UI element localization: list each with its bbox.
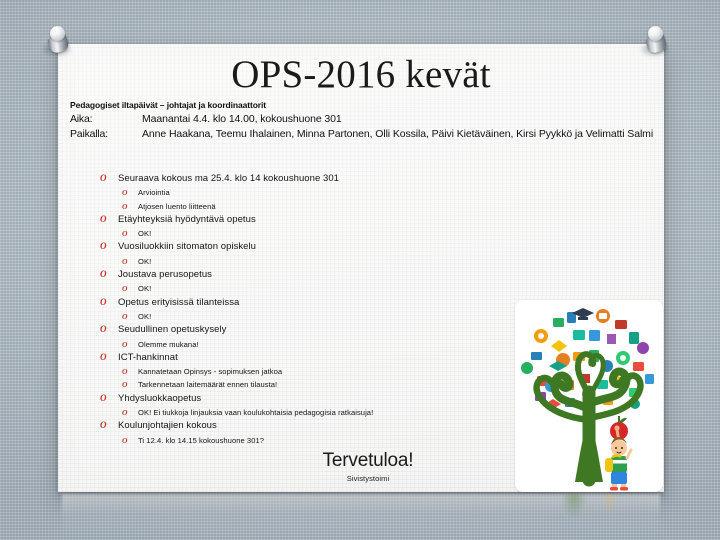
bullet-marker-icon: O (122, 257, 138, 266)
pushpin-head (50, 26, 65, 41)
bullet-marker-icon: O (100, 269, 118, 279)
bullet-marker-icon: O (100, 324, 118, 334)
agenda-item-label: Etäyhteyksiä hyödyntävä opetus (118, 213, 520, 227)
agenda-item-level-1: OOpetus erityisissä tilanteissa (100, 296, 520, 310)
paper-reflection (62, 494, 660, 540)
agenda-item-level-2: OOK! (100, 282, 520, 295)
bullet-marker-icon: O (122, 202, 138, 211)
agenda-list: OSeuraava kokous ma 25.4. klo 14 kokoush… (100, 172, 520, 447)
agenda-item-label: OK! (138, 282, 520, 295)
agenda-item-label: Seuraava kokous ma 25.4. klo 14 kokoushu… (118, 172, 520, 186)
agenda-item-label: Joustava perusopetus (118, 268, 520, 282)
pushpin-icon (42, 24, 76, 58)
attendees-value: Anne Haakana, Teemu Ihalainen, Minna Par… (142, 127, 656, 141)
bullet-marker-icon: O (122, 312, 138, 321)
bullet-marker-icon: O (100, 173, 118, 183)
bullet-marker-icon: O (100, 241, 118, 251)
agenda-item-label: Ti 12.4. klo 14.15 kokoushuone 301? (138, 434, 520, 447)
agenda-item-level-1: OSeudullinen opetuskysely (100, 323, 520, 337)
agenda-item-label: Seudullinen opetuskysely (118, 323, 520, 337)
meeting-detail-row: Aika: Maanantai 4.4. klo 14.00, kokoushu… (70, 112, 656, 126)
agenda-item-level-2: OTarkennetaan laitemäärät ennen tilausta… (100, 378, 520, 391)
agenda-item-level-2: OAtjosen luento liitteenä (100, 200, 520, 213)
agenda-item-label: OK! (138, 227, 520, 240)
meeting-detail-row: Paikalla: Anne Haakana, Teemu Ihalainen,… (70, 127, 656, 141)
attendees-label: Paikalla: (70, 127, 142, 141)
agenda-item-label: Vuosiluokkiin sitomaton opiskelu (118, 240, 520, 254)
agenda-item-level-2: OArviointia (100, 186, 520, 199)
agenda-item-level-2: OKannatetaan Opinsys - sopimuksen jatkoa (100, 365, 520, 378)
agenda-item-label: Opetus erityisissä tilanteissa (118, 296, 520, 310)
agenda-item-level-2: OOK! (100, 310, 520, 323)
agenda-item-label: Olemme mukana! (138, 338, 520, 351)
agenda-item-label: Koulunjohtajien kokous (118, 419, 520, 433)
agenda-item-level-2: OOK! (100, 227, 520, 240)
agenda-item-label: OK! (138, 310, 520, 323)
bullet-marker-icon: O (122, 340, 138, 349)
bullet-marker-icon: O (122, 188, 138, 197)
meeting-time-label: Aika: (70, 112, 142, 126)
welcome-text: Tervetuloa! (218, 450, 518, 472)
organization-name: Sivistystoimi (218, 473, 518, 484)
bullet-marker-icon: O (100, 420, 118, 430)
agenda-item-label: ICT-hankinnat (118, 351, 520, 365)
agenda-item-level-2: OOK! (100, 255, 520, 268)
agenda-item-level-1: OSeuraava kokous ma 25.4. klo 14 kokoush… (100, 172, 520, 186)
presentation-slide: OPS-2016 kevät Pedagogiset iltapäivät – … (0, 0, 720, 540)
bullet-marker-icon: O (100, 214, 118, 224)
agenda-item-label: Arviointia (138, 186, 520, 199)
bullet-marker-icon: O (122, 367, 138, 376)
agenda-item-level-1: OVuosiluokkiin sitomaton opiskelu (100, 240, 520, 254)
paper-sheet: OPS-2016 kevät Pedagogiset iltapäivät – … (58, 44, 664, 492)
pushpin-head (648, 26, 663, 41)
slide-footer: Tervetuloa! Sivistystoimi (218, 450, 518, 484)
agenda-item-label: OK! Ei tiukkoja linjauksia vaan koulukoh… (138, 406, 520, 419)
slide-title: OPS-2016 kevät (58, 52, 664, 98)
bullet-marker-icon: O (122, 284, 138, 293)
agenda-item-level-1: OJoustava perusopetus (100, 268, 520, 282)
agenda-item-level-1: OKoulunjohtajien kokous (100, 419, 520, 433)
agenda-item-level-1: OYhdysluokkaopetus (100, 392, 520, 406)
bullet-marker-icon: O (122, 436, 138, 445)
agenda-item-label: Kannatetaan Opinsys - sopimuksen jatkoa (138, 365, 520, 378)
agenda-item-label: Tarkennetaan laitemäärät ennen tilausta! (138, 378, 520, 391)
pushpin-icon (640, 24, 674, 58)
bullet-marker-icon: O (122, 229, 138, 238)
bullet-marker-icon: O (122, 380, 138, 389)
agenda-item-label: Atjosen luento liitteenä (138, 200, 520, 213)
meeting-heading: Pedagogiset iltapäivät – johtajat ja koo… (70, 99, 656, 111)
agenda-item-level-2: OTi 12.4. klo 14.15 kokoushuone 301? (100, 434, 520, 447)
bullet-marker-icon: O (100, 393, 118, 403)
illustration-reflection (517, 494, 667, 534)
agenda-item-level-1: OEtäyhteyksiä hyödyntävä opetus (100, 213, 520, 227)
agenda-item-label: OK! (138, 255, 520, 268)
knowledge-tree-illustration (515, 300, 663, 492)
bullet-marker-icon: O (122, 408, 138, 417)
meeting-time-value: Maanantai 4.4. klo 14.00, kokoushuone 30… (142, 112, 656, 126)
agenda-item-label: Yhdysluokkaopetus (118, 392, 520, 406)
bullet-marker-icon: O (100, 297, 118, 307)
agenda-item-level-2: OOK! Ei tiukkoja linjauksia vaan kouluko… (100, 406, 520, 419)
agenda-item-level-1: OICT-hankinnat (100, 351, 520, 365)
bullet-marker-icon: O (100, 352, 118, 362)
agenda-item-level-2: OOlemme mukana! (100, 338, 520, 351)
meeting-details: Pedagogiset iltapäivät – johtajat ja koo… (70, 99, 656, 141)
